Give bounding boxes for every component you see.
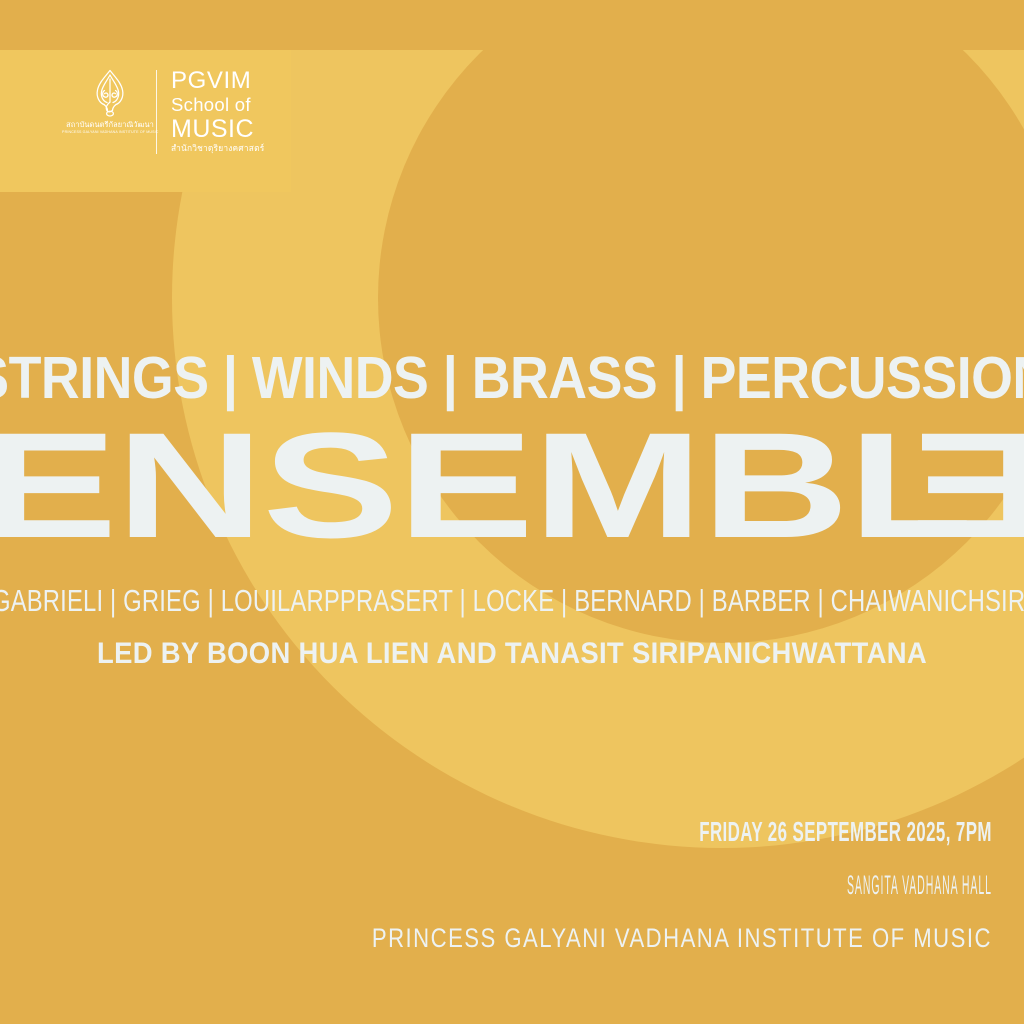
event-institute: PRINCESS GALYANI VADHANA INSTITUTE OF MU… [372, 927, 992, 951]
ensemble-title-mirrored-e: E [912, 410, 1024, 560]
logo-divider [156, 70, 157, 154]
logo-music-text: MUSIC [171, 116, 264, 143]
logo-mark: สถาบันดนตรีกัลยาณิวัฒนา PRINCESS GALYANI… [74, 68, 146, 134]
concert-poster: สถาบันดนตรีกัลยาณิวัฒนา PRINCESS GALYANI… [0, 0, 1024, 1024]
sections-headline: STRINGS | WINDS | BRASS | PERCUSSION [0, 352, 1024, 405]
logo-mark-english-name: PRINCESS GALYANI VADHANA INSTITUTE OF MU… [62, 130, 158, 134]
logo-mark-thai-name: สถาบันดนตรีกัลยาณิวัฒนา [66, 121, 154, 130]
event-date: FRIDAY 26 SEPTEMBER 2025, 7PM [537, 820, 992, 845]
composers-line: GABRIELI | GRIEG | LOUILARPPRASERT | LOC… [0, 588, 1024, 615]
logo-faculty-thai-text: สำนักวิชาดุริยางคศาสตร์ [171, 143, 264, 154]
top-band-shape [0, 0, 1024, 50]
logo-pgvim-text: PGVIM [171, 69, 264, 94]
event-venue: SANGITA VADHANA HALL [697, 874, 992, 898]
logo-school-of-text: School of [171, 94, 264, 116]
logo-wordmark: PGVIM School of MUSIC สำนักวิชาดุริยางคศ… [171, 68, 264, 154]
event-institute-text: PRINCESS GALYANI VADHANA INSTITUTE OF MU… [372, 926, 992, 953]
ensemble-title: ENSEMBLE [0, 410, 1024, 560]
event-date-text: FRIDAY 26 SEPTEMBER 2025, 7PM [699, 819, 992, 847]
sections-headline-text: STRINGS | WINDS | BRASS | PERCUSSION [0, 349, 1024, 408]
composers-line-text: GABRIELI | GRIEG | LOUILARPPRASERT | LOC… [0, 586, 1024, 616]
conductors-line-text: LED BY BOON HUA LIEN AND TANASIT SIRIPAN… [97, 638, 927, 667]
pgvim-crest-icon [87, 68, 133, 118]
event-details: FRIDAY 26 SEPTEMBER 2025, 7PM SANGITA VA… [319, 820, 992, 951]
conductors-line: LED BY BOON HUA LIEN AND TANASIT SIRIPAN… [97, 640, 927, 666]
pgvim-logo-lockup: สถาบันดนตรีกัลยาณิวัฒนา PRINCESS GALYANI… [74, 68, 264, 154]
event-venue-text: SANGITA VADHANA HALL [847, 873, 992, 900]
ensemble-title-main: ENSEMBL [0, 410, 972, 560]
